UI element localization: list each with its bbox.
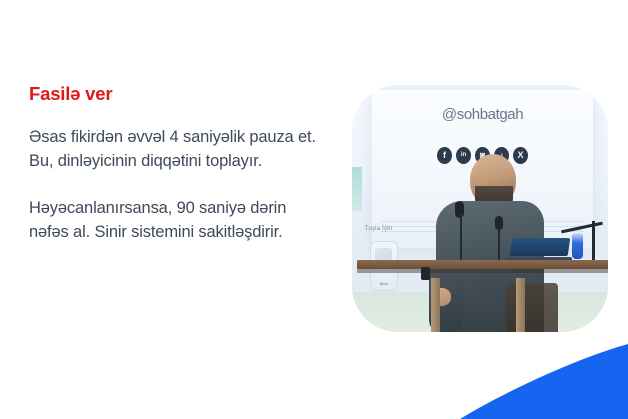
laptop-screen bbox=[509, 238, 570, 256]
microphone-stand bbox=[460, 213, 462, 262]
table-top bbox=[357, 260, 608, 269]
x-twitter-icon: X bbox=[513, 147, 528, 164]
screen-side-caption: Tuşla İştir bbox=[365, 226, 393, 232]
water-bottle bbox=[572, 233, 583, 259]
table-clamp bbox=[421, 267, 430, 280]
table-edge bbox=[357, 269, 608, 273]
speaker-photo-card: @sohbatgah f in ◙ ♪ X Tuşla İştir Birlə bbox=[352, 85, 608, 332]
microphone-stand-secondary bbox=[498, 226, 500, 263]
table-leg-right bbox=[516, 278, 525, 332]
photo-image: @sohbatgah f in ◙ ♪ X Tuşla İştir Birlə bbox=[352, 85, 608, 332]
text-column: Fasilə ver Əsas fikirdən əvvəl 4 saniyəl… bbox=[29, 84, 319, 244]
body-paragraph-1: Əsas fikirdən əvvəl 4 saniyəlik pauza et… bbox=[29, 126, 319, 173]
body-paragraph-2: Həyəcanlanırsansa, 90 saniyə dərin nəfəs… bbox=[29, 197, 319, 244]
phone-mockup-label: Birlə bbox=[371, 281, 397, 286]
chair bbox=[506, 283, 558, 332]
blue-corner-wedge bbox=[438, 344, 628, 419]
linkedin-icon: in bbox=[456, 147, 471, 164]
facebook-icon: f bbox=[437, 147, 452, 164]
screen-handle-text: @sohbatgah bbox=[372, 106, 592, 123]
table-leg-left bbox=[431, 278, 440, 332]
stage-teal-strip bbox=[352, 167, 362, 211]
slide-canvas: Fasilə ver Əsas fikirdən əvvəl 4 saniyəl… bbox=[0, 0, 628, 419]
page-title: Fasilə ver bbox=[29, 84, 319, 104]
